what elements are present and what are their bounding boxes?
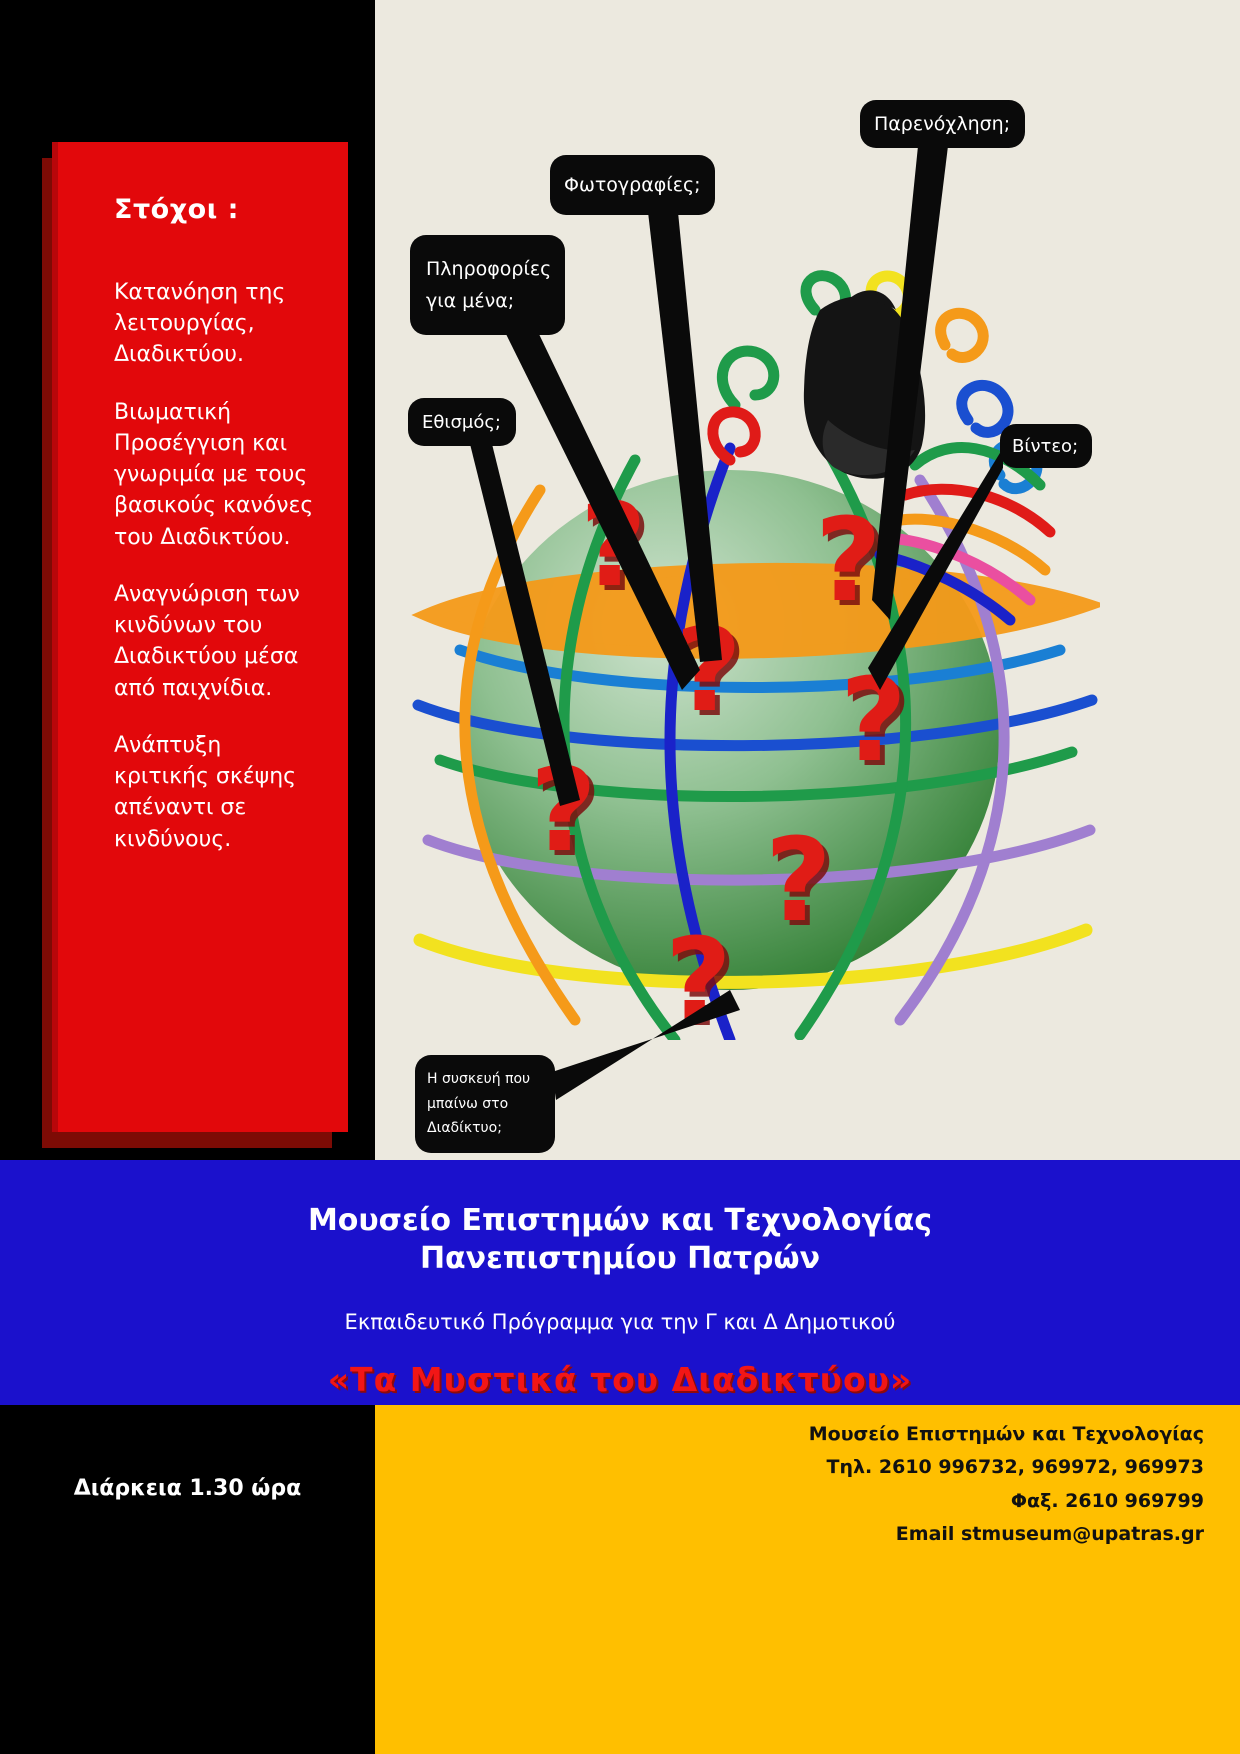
blue-banner: Μουσείο Επιστημών και Τεχνολογίας Πανεπι… (0, 1160, 1240, 1405)
svg-text:?: ? (665, 914, 732, 1040)
museum-title-line1: Μουσείο Επιστημών και Τεχνολογίας (0, 1202, 1240, 1240)
bubble-plirofories[interactable]: Πληροφορίες για μένα; (410, 235, 565, 335)
bubble-syskevi-line1: Η συσκευή που (427, 1067, 543, 1092)
svg-text:?: ? (580, 479, 647, 613)
bubble-syskevi[interactable]: Η συσκευή που μπαίνω στο Διαδίκτυο; (415, 1055, 555, 1153)
bubble-parenoxlisi-text: Παρενόχληση; (874, 113, 1011, 135)
contact-block: Μουσείο Επιστημών και Τεχνολογίας Τηλ. 2… (375, 1418, 1220, 1551)
program-main-title: «Τα Μυστικά του Διαδικτύου» (0, 1360, 1240, 1399)
bubble-plirofories-line2: για μένα; (426, 285, 549, 317)
contact-line-3: Φαξ. 2610 969799 (375, 1485, 1220, 1518)
objectives-panel: Στόχοι : Κατανόηση της λειτουργίας, Διαδ… (58, 142, 348, 1132)
bubble-fotografies-text: Φωτογραφίες; (564, 174, 701, 196)
objectives-heading: Στόχοι : (114, 194, 322, 225)
contact-line-4: Email stmuseum@upatras.gr (375, 1518, 1220, 1551)
bubble-ethismos-text: Εθισμός; (422, 412, 502, 433)
bubble-syskevi-line3: Διαδίκτυο; (427, 1116, 543, 1141)
objective-item-2: Βιωματική Προσέγγιση και γνωριμία με του… (114, 397, 322, 553)
bubble-syskevi-line2: μπαίνω στο (427, 1092, 543, 1117)
poster-canvas: ? ? ? ? ? ? ? (0, 0, 1240, 1754)
objective-item-4: Ανάπτυξη κριτικής σκέψης απέναντι σε κιν… (114, 730, 322, 855)
bubble-vinteo[interactable]: Βίντεο; (1000, 424, 1092, 468)
bubble-vinteo-text: Βίντεο; (1012, 436, 1080, 457)
bubble-parenoxlisi[interactable]: Παρενόχληση; (860, 100, 1025, 148)
svg-text:?: ? (840, 654, 907, 788)
bubble-ethismos[interactable]: Εθισμός; (408, 398, 516, 446)
museum-title-line2: Πανεπιστημίου Πατρών (0, 1240, 1240, 1278)
objective-item-1: Κατανόηση της λειτουργίας, Διαδικτύου. (114, 277, 322, 371)
contact-line-2: Τηλ. 2610 996732, 969972, 969973 (375, 1451, 1220, 1484)
contact-line-1: Μουσείο Επιστημών και Τεχνολογίας (375, 1418, 1220, 1451)
program-subtitle: Εκπαιδευτικό Πρόγραμμα για την Γ και Δ Δ… (0, 1310, 1240, 1334)
svg-text:?: ? (530, 744, 597, 878)
bubble-plirofories-line1: Πληροφορίες (426, 253, 549, 285)
objective-item-3: Αναγνώριση των κινδύνων του Διαδικτύου μ… (114, 579, 322, 704)
svg-text:?: ? (765, 814, 832, 948)
duration-label: Διάρκεια 1.30 ώρα (0, 1476, 375, 1501)
bubble-fotografies[interactable]: Φωτογραφίες; (550, 155, 715, 215)
museum-title: Μουσείο Επιστημών και Τεχνολογίας Πανεπι… (0, 1202, 1240, 1279)
